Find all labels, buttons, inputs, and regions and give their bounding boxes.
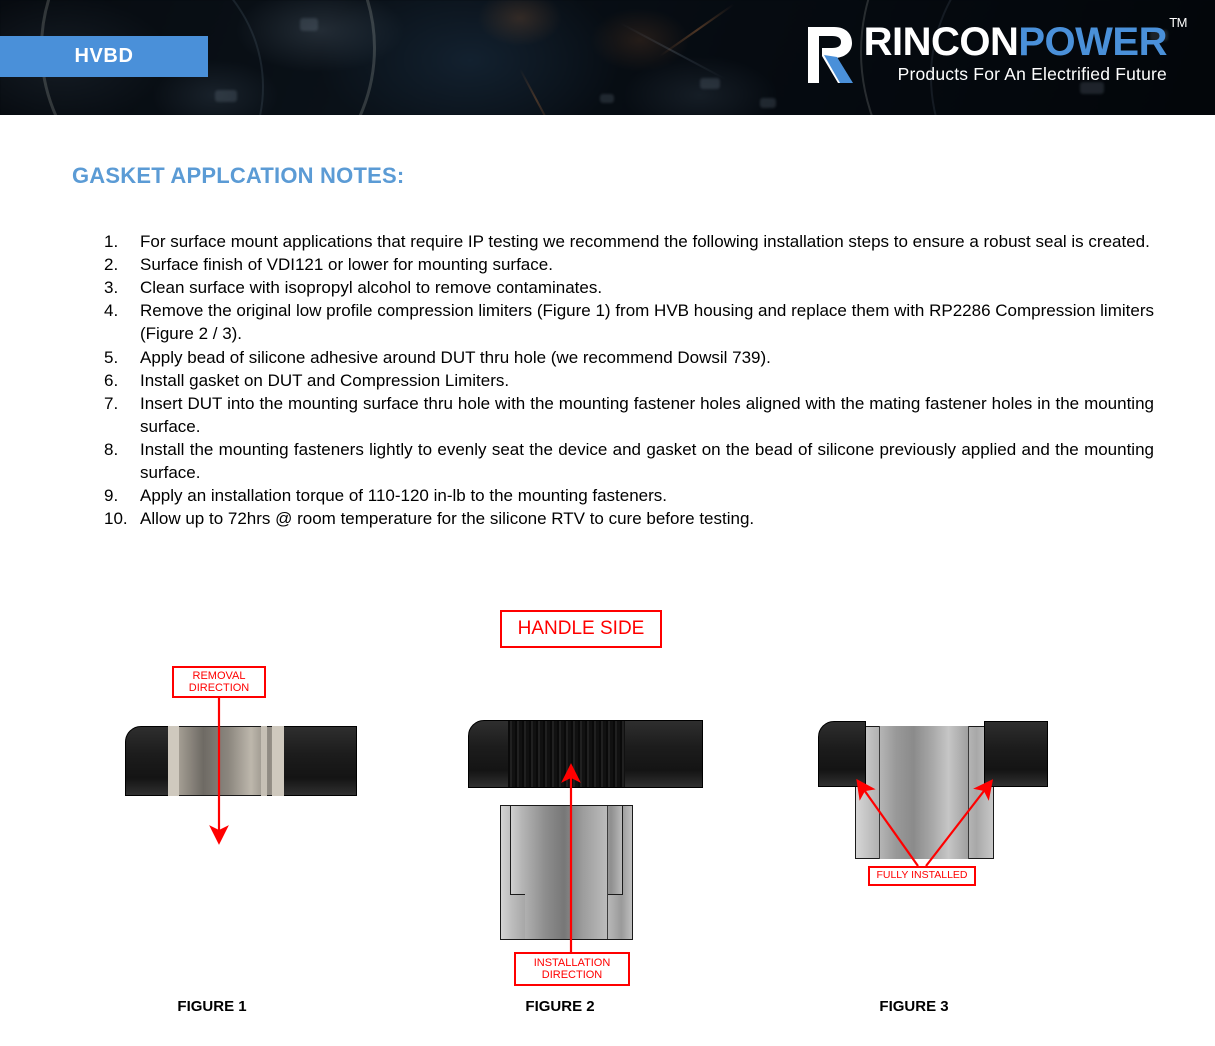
figure-1-limiter-rim-right-2	[272, 726, 284, 796]
list-item-text: Apply bead of silicone adhesive around D…	[140, 346, 1154, 369]
list-item: 10. Allow up to 72hrs @ room temperature…	[104, 507, 1154, 530]
list-item-number: 10.	[104, 507, 140, 530]
list-item-text: Clean surface with isopropyl alcohol to …	[140, 276, 1154, 299]
figure-2-empty-bore	[508, 721, 625, 787]
list-item: 4. Remove the original low profile compr…	[104, 299, 1154, 345]
handle-side-label: HANDLE SIDE	[500, 610, 662, 648]
list-item: 5. Apply bead of silicone adhesive aroun…	[104, 346, 1154, 369]
hvbd-section-tab[interactable]: HVBD	[0, 36, 208, 77]
gasket-notes-list: 1. For surface mount applications that r…	[104, 230, 1154, 530]
list-item-number: 8.	[104, 438, 140, 484]
list-item-text: Apply an installation torque of 110-120 …	[140, 484, 1154, 507]
figures-section: HANDLE SIDE REMOVAL DIRECTION INSTALLATI…	[0, 580, 1215, 1046]
removal-direction-label: REMOVAL DIRECTION	[172, 666, 266, 698]
list-item-text: Surface finish of VDI121 or lower for mo…	[140, 253, 1154, 276]
header-decor-blip	[300, 18, 318, 31]
list-item-number: 5.	[104, 346, 140, 369]
list-item-number: 2.	[104, 253, 140, 276]
list-item-text: Allow up to 72hrs @ room temperature for…	[140, 507, 1154, 530]
list-item-text: Install the mounting fasteners lightly t…	[140, 438, 1154, 484]
list-item-text: Install gasket on DUT and Compression Li…	[140, 369, 1154, 392]
header-decor-blip	[600, 94, 614, 103]
header-decor-blip	[700, 78, 720, 89]
figure-1-caption: FIGURE 1	[122, 998, 302, 1015]
list-item-text: For surface mount applications that requ…	[140, 230, 1154, 253]
figure-2-caption: FIGURE 2	[470, 998, 650, 1015]
trademark-icon: TM	[1169, 16, 1187, 29]
logo-text-block: RINCONPOWER TM Products For An Electrifi…	[864, 22, 1167, 85]
figure-2-limiter-inner-bore	[525, 806, 607, 939]
list-item: 7. Insert DUT into the mounting surface …	[104, 392, 1154, 438]
list-item-text: Remove the original low profile compress…	[140, 299, 1154, 345]
logo-wordmark: RINCONPOWER TM	[864, 22, 1167, 62]
list-item: 1. For surface mount applications that r…	[104, 230, 1154, 253]
header-decor-blip	[760, 98, 776, 108]
list-item-number: 3.	[104, 276, 140, 299]
list-item-number: 1.	[104, 230, 140, 253]
list-item: 9. Apply an installation torque of 110-1…	[104, 484, 1154, 507]
figure-3-caption: FIGURE 3	[824, 998, 1004, 1015]
removal-direction-line1: REMOVAL	[193, 670, 246, 682]
installation-direction-line1: INSTALLATION	[534, 957, 611, 969]
figure-3-housing-right	[984, 721, 1048, 787]
header-decor-blip	[215, 90, 237, 102]
logo-brand-power: POWER	[1018, 20, 1167, 64]
page-header: HVBD RINCONPOWER TM Products For An Elec…	[0, 0, 1215, 115]
hvbd-tab-label: HVBD	[74, 45, 133, 68]
list-item-text: Insert DUT into the mounting surface thr…	[140, 392, 1154, 438]
figure-3-housing-left	[818, 721, 866, 787]
list-item: 6. Install gasket on DUT and Compression…	[104, 369, 1154, 392]
figure-1-limiter-rim-left	[168, 726, 179, 796]
page-title: GASKET APPLCATION NOTES:	[72, 163, 404, 189]
figure-3-limiter-barrel	[879, 726, 969, 859]
removal-direction-line2: DIRECTION	[189, 682, 250, 694]
list-item-number: 9.	[104, 484, 140, 507]
list-item: 2. Surface finish of VDI121 or lower for…	[104, 253, 1154, 276]
list-item: 8. Install the mounting fasteners lightl…	[104, 438, 1154, 484]
list-item: 3. Clean surface with isopropyl alcohol …	[104, 276, 1154, 299]
figure-1-limiter-rim-right	[261, 726, 267, 796]
company-logo[interactable]: RINCONPOWER TM Products For An Electrifi…	[802, 22, 1167, 85]
installation-direction-line2: DIRECTION	[542, 969, 603, 981]
fully-installed-label-text: FULLY INSTALLED	[876, 870, 967, 882]
installation-direction-label: INSTALLATION DIRECTION	[514, 952, 630, 986]
figure-2-limiter-bore-edge-right	[607, 806, 608, 939]
list-item-number: 4.	[104, 299, 140, 345]
rincon-r-logo-icon	[802, 25, 858, 85]
list-item-number: 6.	[104, 369, 140, 392]
logo-tagline: Products For An Electrified Future	[864, 64, 1167, 85]
logo-brand-rincon: RINCON	[864, 20, 1019, 64]
list-item-number: 7.	[104, 392, 140, 438]
fully-installed-label: FULLY INSTALLED	[868, 866, 976, 886]
handle-side-label-text: HANDLE SIDE	[518, 618, 645, 639]
